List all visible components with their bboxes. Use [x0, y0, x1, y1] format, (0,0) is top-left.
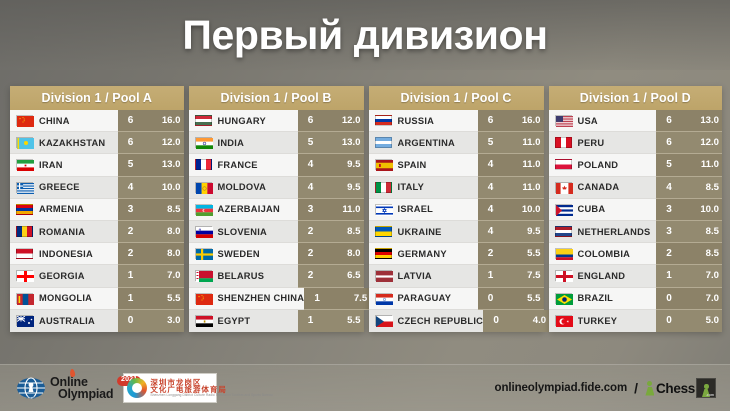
table-row[interactable]: GERMANY25.5 [369, 243, 544, 265]
flag-icon [375, 115, 392, 126]
cell-match-points: 4 [298, 154, 324, 176]
cell-match-points: 3 [118, 199, 144, 221]
cell-match-points: 5 [656, 154, 682, 176]
flag-icon [555, 115, 572, 126]
pool-body: HUNGARY612.0INDIA513.0FRANCE49.5MOLDOVA4… [189, 110, 364, 332]
country-name: AZERBAIJAN [218, 204, 280, 214]
pool-header: Division 1 / Pool B [189, 86, 364, 110]
flag-icon [195, 226, 212, 237]
table-row[interactable]: AUSTRALIA03.0 [10, 310, 184, 332]
cell-game-points: 7.5 [330, 288, 370, 310]
fide-globe-icon: FIDE [16, 375, 46, 401]
cell-country: RUSSIA [369, 110, 478, 132]
table-row[interactable]: INDONESIA28.0 [10, 243, 184, 265]
country-name: GREECE [39, 182, 80, 192]
sponsor-swirl-icon [127, 378, 147, 398]
cell-country: CZECH REPUBLIC [369, 310, 484, 332]
country-name: UKRAINE [398, 227, 442, 237]
pools-container: Division 1 / Pool ACHINA616.0KAZAKHSTAN6… [10, 86, 722, 332]
cell-game-points: 8.5 [144, 199, 184, 221]
cell-match-points: 1 [298, 310, 324, 332]
table-row[interactable]: CUBA310.0 [549, 199, 723, 221]
cell-game-points: 10.0 [504, 199, 544, 221]
country-name: PERU [578, 138, 605, 148]
cell-country: SLOVENIA [189, 221, 298, 243]
table-row[interactable]: ENGLAND17.0 [549, 265, 723, 287]
flag-icon [16, 115, 33, 126]
table-row[interactable]: CZECH REPUBLIC04.0 [369, 310, 544, 332]
flag-icon [195, 115, 212, 126]
online-olympiad-logo: FIDE Online 2021 Olympiad [16, 375, 113, 401]
cell-country: FRANCE [189, 154, 298, 176]
cell-game-points: 7.0 [682, 288, 722, 310]
cell-match-points: 4 [118, 177, 144, 199]
flag-icon [555, 204, 572, 215]
flag-icon [195, 293, 212, 304]
cell-match-points: 6 [298, 110, 324, 132]
separator-slash: / [634, 380, 638, 396]
table-row[interactable]: SLOVENIA28.5 [189, 221, 364, 243]
flag-icon [555, 159, 572, 170]
olympiad-line-2: Olympiad [50, 388, 113, 400]
cell-match-points: 0 [483, 310, 509, 332]
footer-right-brand: onlineolympiad.fide.com / Chess .com [495, 378, 730, 398]
cell-match-points: 6 [656, 132, 682, 154]
cell-country: COLOMBIA [549, 243, 657, 265]
cell-country: GREECE [10, 177, 118, 199]
country-name: LATVIA [398, 271, 432, 281]
cell-match-points: 1 [118, 265, 144, 287]
table-row[interactable]: KAZAKHSTAN612.0 [10, 132, 184, 154]
flag-icon [16, 248, 33, 259]
cell-match-points: 2 [298, 221, 324, 243]
cell-country: IRAN [10, 154, 118, 176]
cell-country: EGYPT [189, 310, 298, 332]
cell-country: ITALY [369, 177, 478, 199]
cell-country: GEORGIA [10, 265, 118, 287]
cell-game-points: 5.5 [504, 243, 544, 265]
table-row[interactable]: SWEDEN28.0 [189, 243, 364, 265]
slide-root: Первый дивизион Division 1 / Pool ACHINA… [0, 0, 730, 411]
table-row[interactable]: ISRAEL410.0 [369, 199, 544, 221]
cell-match-points: 4 [478, 199, 504, 221]
cell-country: INDIA [189, 132, 298, 154]
cell-match-points: 2 [478, 243, 504, 265]
chesscom-badge-icon: .com [696, 378, 716, 398]
cell-game-points: 8.0 [324, 243, 364, 265]
flag-icon [16, 226, 33, 237]
cell-game-points: 6.5 [324, 265, 364, 287]
country-name: AUSTRALIA [39, 316, 95, 326]
site-url-text[interactable]: onlineolympiad.fide.com [495, 382, 628, 394]
cell-country: PERU [549, 132, 657, 154]
flag-icon [16, 204, 33, 215]
flag-icon [195, 204, 212, 215]
chesscom-wordmark: Chess [656, 381, 695, 396]
table-row[interactable]: PERU612.0 [549, 132, 723, 154]
flag-icon [16, 293, 33, 304]
table-row[interactable]: SPAIN411.0 [369, 154, 544, 176]
pool-table: Division 1 / Pool ACHINA616.0KAZAKHSTAN6… [10, 86, 184, 332]
cell-game-points: 9.5 [504, 221, 544, 243]
cell-country: POLAND [549, 154, 657, 176]
flag-icon [16, 270, 33, 281]
cell-match-points: 0 [656, 288, 682, 310]
flag-icon [16, 182, 33, 193]
table-row[interactable]: ARGENTINA511.0 [369, 132, 544, 154]
cell-country: BELARUS [189, 265, 298, 287]
cell-country: USA [549, 110, 657, 132]
table-row[interactable]: BRAZIL07.0 [549, 288, 723, 310]
country-name: CHINA [39, 116, 70, 126]
country-name: CUBA [578, 204, 606, 214]
cell-match-points: 5 [298, 132, 324, 154]
country-name: SPAIN [398, 160, 427, 170]
table-row[interactable]: INDIA513.0 [189, 132, 364, 154]
country-name: KAZAKHSTAN [39, 138, 105, 148]
cell-country: SHENZHEN CHINA [189, 288, 305, 310]
flag-icon [375, 293, 392, 304]
country-name: MONGOLIA [39, 293, 92, 303]
cell-match-points: 3 [298, 199, 324, 221]
cell-game-points: 4.0 [509, 310, 549, 332]
cell-country: ARGENTINA [369, 132, 478, 154]
cell-game-points: 11.0 [504, 177, 544, 199]
table-row[interactable]: POLAND511.0 [549, 154, 723, 176]
country-name: CZECH REPUBLIC [398, 316, 484, 326]
cell-country: UKRAINE [369, 221, 478, 243]
cell-match-points: 1 [304, 288, 330, 310]
cell-country: CUBA [549, 199, 657, 221]
flag-icon [16, 159, 33, 170]
cell-game-points: 12.0 [144, 132, 184, 154]
pawn-icon [645, 381, 655, 396]
cell-match-points: 5 [118, 154, 144, 176]
pool-table: Division 1 / Pool CRUSSIA616.0ARGENTINA5… [369, 86, 544, 332]
svg-text:FIDE: FIDE [26, 395, 35, 400]
cell-country: TURKEY [549, 310, 657, 332]
cell-game-points: 8.0 [144, 243, 184, 265]
cell-game-points: 5.5 [504, 288, 544, 310]
country-name: HUNGARY [218, 116, 266, 126]
flag-icon [195, 159, 212, 170]
cell-game-points: 13.0 [324, 132, 364, 154]
table-row[interactable]: NETHERLANDS38.5 [549, 221, 723, 243]
cell-country: AZERBAIJAN [189, 199, 298, 221]
table-row[interactable]: ARMENIA38.5 [10, 199, 184, 221]
country-name: MOLDOVA [218, 182, 267, 192]
country-name: INDONESIA [39, 249, 93, 259]
pool-table: Division 1 / Pool DUSA613.0PERU612.0POLA… [549, 86, 723, 332]
cell-game-points: 12.0 [324, 110, 364, 132]
sponsor-logo: 深圳市龙岗区 文化广电旅游体育局 Shenzhen Longgang Distr… [123, 373, 217, 403]
cell-country: MONGOLIA [10, 288, 118, 310]
cell-country: NETHERLANDS [549, 221, 657, 243]
cell-country: HUNGARY [189, 110, 298, 132]
country-name: SWEDEN [218, 249, 260, 259]
country-name: CANADA [578, 182, 620, 192]
cell-game-points: 12.0 [682, 132, 722, 154]
country-name: IRAN [39, 160, 63, 170]
pool-body: USA613.0PERU612.0POLAND511.0CANADA48.5CU… [549, 110, 723, 332]
country-name: ISRAEL [398, 204, 434, 214]
table-row[interactable]: PARAGUAY05.5 [369, 288, 544, 310]
country-name: ROMANIA [39, 227, 85, 237]
cell-country: SPAIN [369, 154, 478, 176]
table-row[interactable]: IRAN513.0 [10, 154, 184, 176]
cell-game-points: 8.5 [682, 221, 722, 243]
pool-body: CHINA616.0KAZAKHSTAN612.0IRAN513.0GREECE… [10, 110, 184, 332]
cell-country: CHINA [10, 110, 118, 132]
cell-game-points: 3.0 [144, 310, 184, 332]
cell-match-points: 1 [478, 265, 504, 287]
cell-country: CANADA [549, 177, 657, 199]
table-row[interactable]: CHINA616.0 [10, 110, 184, 132]
table-row[interactable]: FRANCE49.5 [189, 154, 364, 176]
cell-game-points: 11.0 [504, 154, 544, 176]
cell-match-points: 2 [298, 265, 324, 287]
flag-icon [195, 270, 212, 281]
cell-match-points: 3 [656, 221, 682, 243]
country-name: GERMANY [398, 249, 447, 259]
cell-country: BRAZIL [549, 288, 657, 310]
cell-game-points: 10.0 [682, 199, 722, 221]
cell-country: LATVIA [369, 265, 478, 287]
table-row[interactable]: USA613.0 [549, 110, 723, 132]
online-olympiad-wordmark: Online 2021 Olympiad [50, 376, 113, 401]
cell-match-points: 4 [478, 221, 504, 243]
table-row[interactable]: UKRAINE49.5 [369, 221, 544, 243]
chesscom-dotcom-text: .com [706, 393, 714, 397]
cell-game-points: 10.0 [144, 177, 184, 199]
cell-match-points: 2 [656, 243, 682, 265]
table-row[interactable]: ITALY411.0 [369, 177, 544, 199]
cell-country: KAZAKHSTAN [10, 132, 118, 154]
cell-match-points: 4 [298, 177, 324, 199]
flag-icon [16, 315, 33, 326]
flag-icon [555, 226, 572, 237]
cell-game-points: 8.5 [324, 221, 364, 243]
cell-game-points: 11.0 [682, 154, 722, 176]
cell-country: ENGLAND [549, 265, 657, 287]
cell-game-points: 9.5 [324, 154, 364, 176]
flag-icon [375, 226, 392, 237]
table-row[interactable]: MOLDOVA49.5 [189, 177, 364, 199]
cell-game-points: 13.0 [682, 110, 722, 132]
table-row[interactable]: TURKEY05.0 [549, 310, 723, 332]
cell-country: INDONESIA [10, 243, 118, 265]
footer-left-logos: FIDE Online 2021 Olympiad 深圳市龙岗区 文化广电旅游体… [0, 373, 217, 403]
flag-icon [195, 248, 212, 259]
flag-icon [555, 293, 572, 304]
flag-icon [195, 182, 212, 193]
cell-game-points: 7.0 [144, 265, 184, 287]
cell-match-points: 0 [118, 310, 144, 332]
country-name: FRANCE [218, 160, 258, 170]
cell-game-points: 13.0 [144, 154, 184, 176]
table-row[interactable]: CANADA48.5 [549, 177, 723, 199]
cell-game-points: 8.5 [682, 177, 722, 199]
table-row[interactable]: GEORGIA17.0 [10, 265, 184, 287]
flag-icon [16, 137, 33, 148]
cell-game-points: 9.5 [324, 177, 364, 199]
country-name: SLOVENIA [218, 227, 268, 237]
cell-country: SWEDEN [189, 243, 298, 265]
flag-icon [375, 270, 392, 281]
country-name: TURKEY [578, 316, 618, 326]
footer-bar: FIDE Online 2021 Olympiad 深圳市龙岗区 文化广电旅游体… [0, 364, 730, 411]
country-name: GEORGIA [39, 271, 85, 281]
cell-match-points: 4 [478, 177, 504, 199]
pool-table: Division 1 / Pool BHUNGARY612.0INDIA513.… [189, 86, 364, 332]
flag-icon [555, 182, 572, 193]
country-name: BRAZIL [578, 293, 614, 303]
cell-match-points: 1 [118, 288, 144, 310]
country-name: POLAND [578, 160, 619, 170]
flag-icon [555, 248, 572, 259]
cell-country: ISRAEL [369, 199, 478, 221]
table-row[interactable]: RUSSIA616.0 [369, 110, 544, 132]
cell-country: GERMANY [369, 243, 478, 265]
pool-header: Division 1 / Pool C [369, 86, 544, 110]
flame-icon [69, 368, 75, 377]
cell-match-points: 4 [478, 154, 504, 176]
cell-game-points: 16.0 [144, 110, 184, 132]
country-name: ENGLAND [578, 271, 626, 281]
country-name: USA [578, 116, 598, 126]
cell-match-points: 4 [656, 177, 682, 199]
cell-game-points: 5.0 [682, 310, 722, 332]
table-row[interactable]: AZERBAIJAN311.0 [189, 199, 364, 221]
pool-header: Division 1 / Pool A [10, 86, 184, 110]
cell-game-points: 7.5 [504, 265, 544, 287]
flag-icon [555, 315, 572, 326]
table-row[interactable]: GREECE410.0 [10, 177, 184, 199]
country-name: ARMENIA [39, 204, 84, 214]
flag-icon [195, 315, 212, 326]
cell-game-points: 5.5 [144, 288, 184, 310]
cell-country: MOLDOVA [189, 177, 298, 199]
cell-match-points: 2 [118, 221, 144, 243]
table-row[interactable]: SHENZHEN CHINA17.5 [189, 288, 364, 310]
cell-country: ARMENIA [10, 199, 118, 221]
sponsor-text: 深圳市龙岗区 文化广电旅游体育局 Shenzhen Longgang Distr… [150, 379, 272, 397]
cell-game-points: 8.0 [144, 221, 184, 243]
cell-game-points: 7.0 [682, 265, 722, 287]
cell-match-points: 2 [298, 243, 324, 265]
pool-body: RUSSIA616.0ARGENTINA511.0SPAIN411.0ITALY… [369, 110, 544, 332]
flag-icon [375, 248, 392, 259]
country-name: NETHERLANDS [578, 227, 651, 237]
country-name: SHENZHEN CHINA [218, 293, 305, 303]
cell-match-points: 1 [656, 265, 682, 287]
chesscom-logo[interactable]: Chess .com [645, 378, 716, 398]
cell-country: AUSTRALIA [10, 310, 118, 332]
flag-icon [375, 182, 392, 193]
flag-icon [375, 204, 392, 215]
table-row[interactable]: MONGOLIA15.5 [10, 288, 184, 310]
flag-icon [195, 137, 212, 148]
country-name: RUSSIA [398, 116, 435, 126]
table-row[interactable]: EGYPT15.5 [189, 310, 364, 332]
flag-icon [555, 137, 572, 148]
pool-header: Division 1 / Pool D [549, 86, 723, 110]
table-row[interactable]: ROMANIA28.0 [10, 221, 184, 243]
country-name: ITALY [398, 182, 425, 192]
cell-game-points: 16.0 [504, 110, 544, 132]
cell-match-points: 3 [656, 199, 682, 221]
cell-match-points: 6 [118, 110, 144, 132]
cell-match-points: 5 [478, 132, 504, 154]
cell-game-points: 11.0 [504, 132, 544, 154]
flag-icon [555, 270, 572, 281]
sponsor-line-3: Shenzhen Longgang District Culture Radio… [150, 394, 272, 397]
flag-icon [375, 137, 392, 148]
country-name: INDIA [218, 138, 245, 148]
page-title: Первый дивизион [0, 12, 730, 59]
country-name: COLOMBIA [578, 249, 631, 259]
table-row[interactable]: BELARUS26.5 [189, 265, 364, 287]
cell-match-points: 0 [478, 288, 504, 310]
country-name: BELARUS [218, 271, 265, 281]
table-row[interactable]: HUNGARY612.0 [189, 110, 364, 132]
cell-game-points: 5.5 [324, 310, 364, 332]
cell-game-points: 8.5 [682, 243, 722, 265]
cell-match-points: 6 [478, 110, 504, 132]
flag-icon [375, 159, 392, 170]
country-name: ARGENTINA [398, 138, 456, 148]
cell-match-points: 6 [118, 132, 144, 154]
table-row[interactable]: LATVIA17.5 [369, 265, 544, 287]
cell-country: ROMANIA [10, 221, 118, 243]
cell-game-points: 11.0 [324, 199, 364, 221]
cell-match-points: 2 [118, 243, 144, 265]
country-name: EGYPT [218, 316, 251, 326]
cell-match-points: 0 [656, 310, 682, 332]
cell-match-points: 6 [656, 110, 682, 132]
country-name: PARAGUAY [398, 293, 452, 303]
table-row[interactable]: COLOMBIA28.5 [549, 243, 723, 265]
cell-country: PARAGUAY [369, 288, 478, 310]
flag-icon [375, 315, 392, 326]
